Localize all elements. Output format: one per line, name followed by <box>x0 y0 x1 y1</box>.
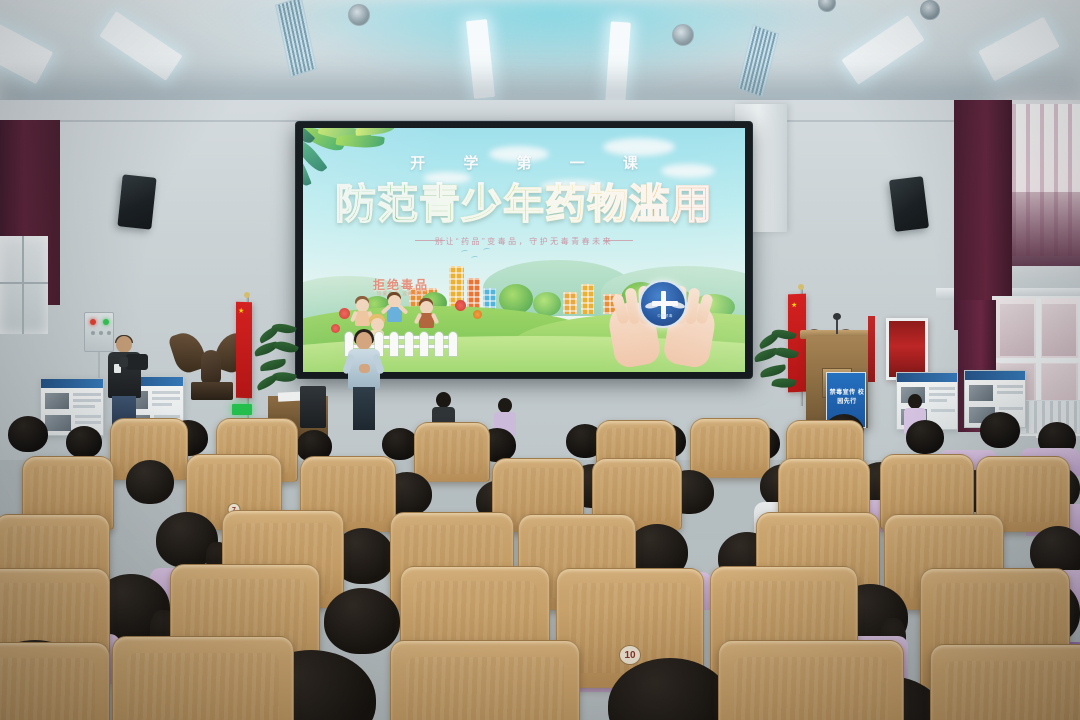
student-head <box>324 588 400 654</box>
flower <box>339 308 350 319</box>
seat[interactable] <box>390 640 580 720</box>
anti-drug-emblem: 中国禁毒 <box>639 280 687 328</box>
student-head <box>906 420 944 454</box>
student-head <box>980 412 1020 448</box>
wall-speaker-right <box>889 176 929 232</box>
seat[interactable] <box>0 642 110 720</box>
seat[interactable] <box>690 418 770 478</box>
building <box>563 292 577 314</box>
indicator-green <box>103 319 109 325</box>
indicator-small-b <box>99 331 103 335</box>
slide-main-title: 防范青少年药物滥用 <box>303 184 745 225</box>
indicator-red <box>90 319 96 325</box>
seat[interactable] <box>414 422 490 482</box>
video-camera <box>126 354 148 370</box>
student-head <box>382 428 418 460</box>
emblem-text: 中国禁毒 <box>641 314 689 319</box>
student-head <box>126 460 174 504</box>
flag-left: ★ <box>236 302 252 399</box>
flagpole-finial-left <box>244 292 250 298</box>
window-left <box>0 236 48 334</box>
seat[interactable] <box>930 644 1080 720</box>
wall-speaker-left <box>117 174 156 229</box>
poster-side-strip <box>868 316 875 382</box>
flagpole-finial-right <box>798 284 804 290</box>
indicator-small-a <box>91 331 95 335</box>
flower <box>331 324 340 333</box>
indicator-small-c <box>107 331 111 335</box>
auditorium-photo: 开 学 第 一 课 防范青少年药物滥用 别让“药品”变毒品，守护无毒青春未来 <box>0 0 1080 720</box>
slide-subtitle: 别让“药品”变毒品，守护无毒青春未来 <box>303 236 745 247</box>
red-poster <box>886 318 928 380</box>
slide-kicker: 开 学 第 一 课 <box>303 152 745 173</box>
seat[interactable] <box>112 636 294 720</box>
ceiling-speaker <box>348 4 370 26</box>
flower <box>473 310 482 319</box>
hands-holding-emblem: 中国禁毒 <box>605 270 721 366</box>
student-head <box>8 416 48 452</box>
building <box>581 284 594 314</box>
student-head <box>66 426 102 458</box>
microphone <box>836 318 838 334</box>
ceiling-speaker <box>672 24 694 46</box>
audience-seating: 7 8 9 12 13 <box>0 392 1080 720</box>
seat[interactable] <box>718 640 904 720</box>
seat-number: 10 <box>619 645 641 665</box>
flower <box>455 300 466 311</box>
curtain-sheer-upper-right <box>1004 192 1080 266</box>
ceiling-speaker <box>920 0 940 20</box>
